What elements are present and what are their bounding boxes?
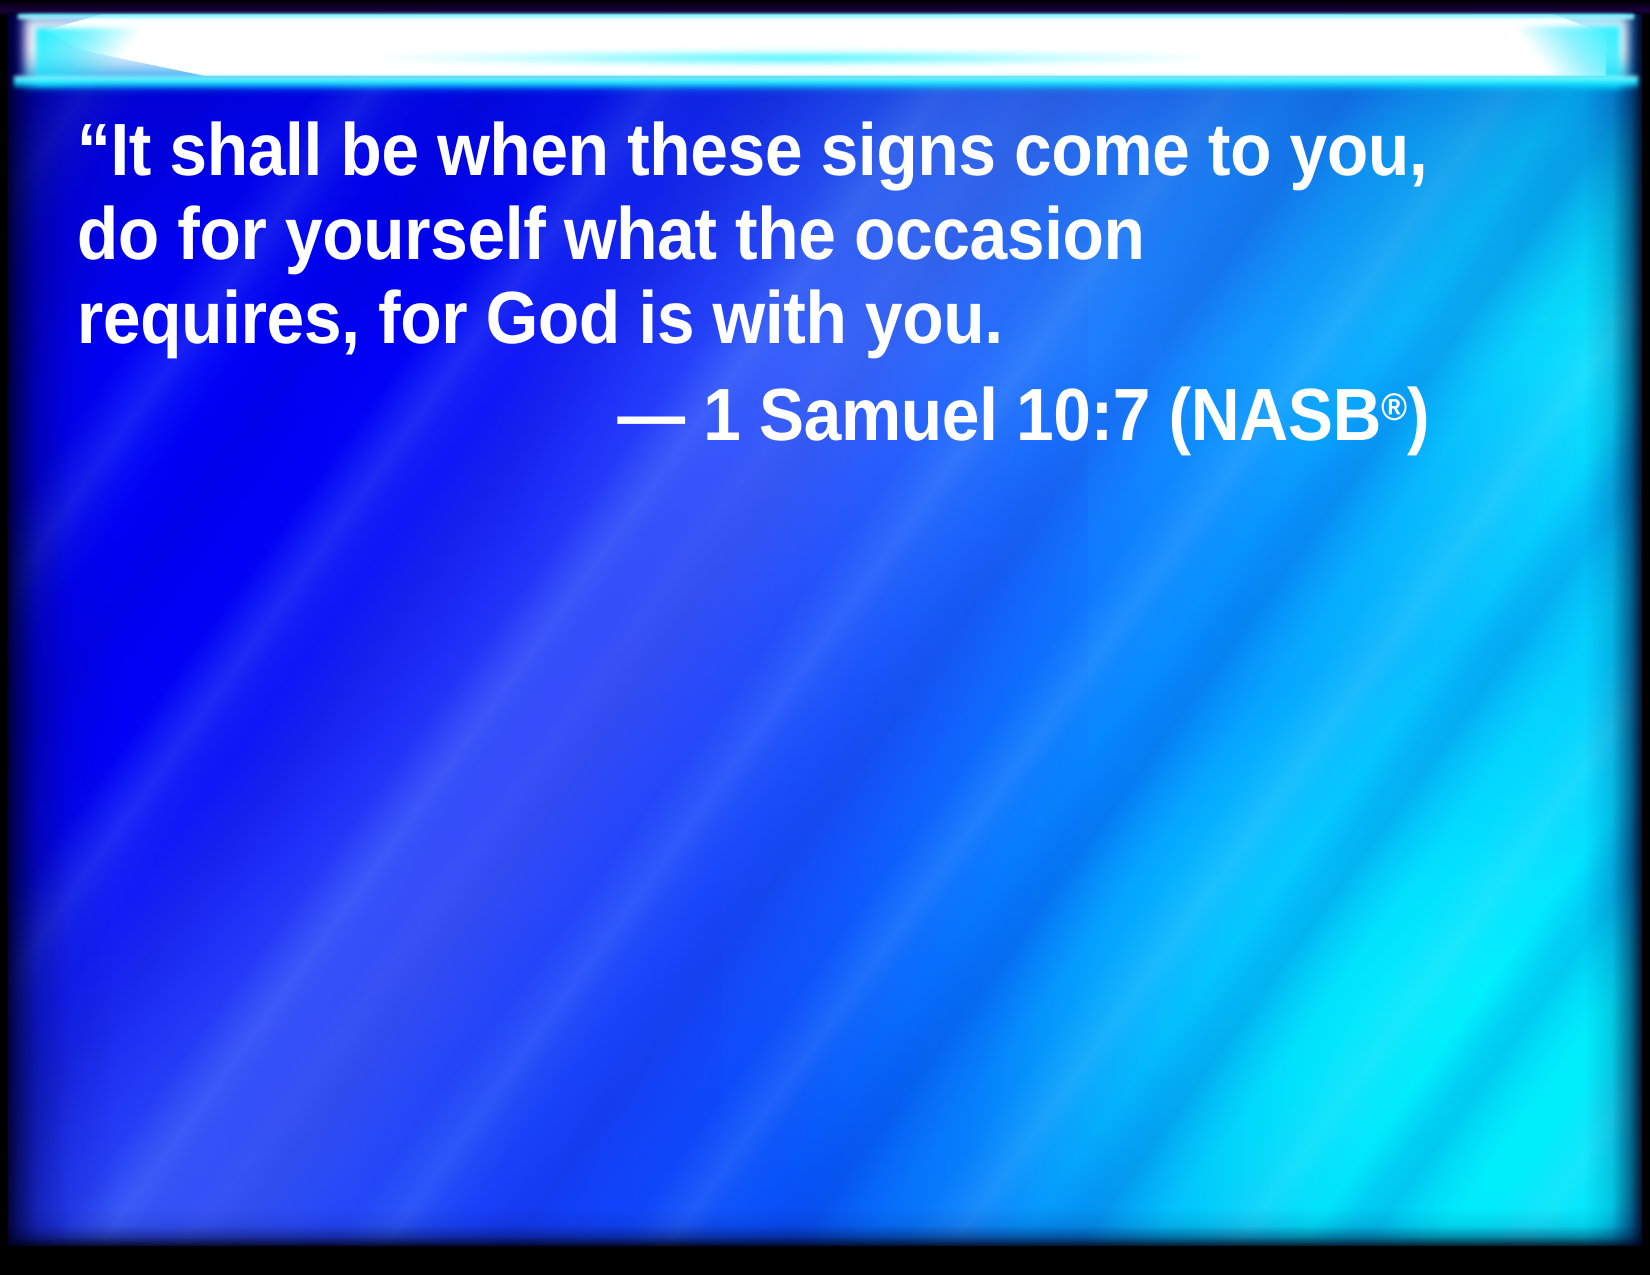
attribution-reference: 1 Samuel 10:7 (703, 373, 1150, 456)
verse-text-block: “It shall be when these signs come to yo… (0, 108, 1510, 457)
verse-line-2: do for yourself what the occasion (77, 192, 1446, 276)
verse-slide: “It shall be when these signs come to yo… (0, 0, 1650, 1275)
registered-trademark-icon: ® (1381, 386, 1407, 429)
verse-line-3: requires, for God is with you. (77, 276, 1446, 360)
verse-line-1: “It shall be when these signs come to yo… (77, 108, 1446, 192)
background-right-vignette (1582, 14, 1642, 1246)
attribution-translation-open: (NASB (1169, 373, 1382, 456)
verse-attribution: — 1 Samuel 10:7 (NASB®) (77, 366, 1446, 457)
attribution-spacer-2 (1150, 373, 1168, 456)
attribution-translation-close: ) (1407, 373, 1429, 456)
attribution-em-dash: — (617, 373, 684, 456)
background-bottom-vignette (8, 1206, 1642, 1246)
attribution-spacer-1 (685, 373, 703, 456)
